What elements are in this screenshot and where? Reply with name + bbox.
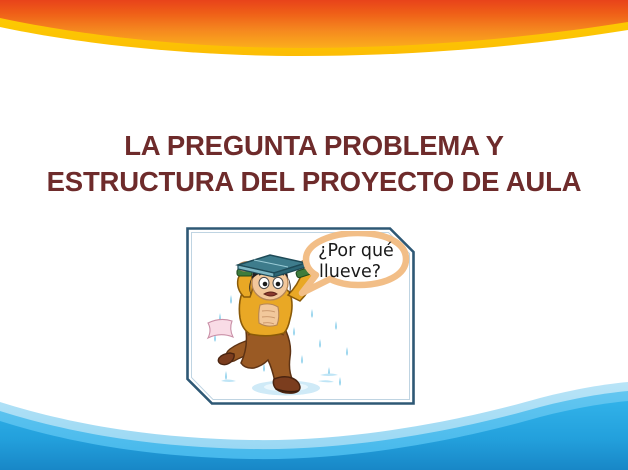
flying-paper bbox=[208, 319, 233, 338]
clipart-artwork: ¿Por qué llueve? bbox=[190, 231, 411, 401]
speech-bubble-line-1: ¿Por qué bbox=[318, 241, 394, 261]
slide-canvas: LA PREGUNTA PROBLEMA Y ESTRUCTURA DEL PR… bbox=[0, 0, 628, 470]
orange-wave-svg bbox=[0, 0, 628, 80]
orange-body-shape bbox=[0, 0, 628, 48]
main-blue-body bbox=[0, 401, 628, 470]
front-shoe bbox=[273, 377, 300, 393]
page-title: LA PREGUNTA PROBLEMA Y ESTRUCTURA DEL PR… bbox=[0, 128, 628, 201]
speech-bubble-line-2: llueve? bbox=[319, 262, 381, 282]
title-line-1: LA PREGUNTA PROBLEMA Y bbox=[0, 128, 628, 164]
title-line-2: ESTRUCTURA DEL PROYECTO DE AULA bbox=[0, 164, 628, 200]
rain-question-clipart[interactable]: ¿Por qué llueve? bbox=[186, 227, 415, 405]
speech-bubble: ¿Por qué llueve? bbox=[302, 233, 406, 293]
orange-wave-banner bbox=[0, 0, 628, 80]
yellow-band-shape bbox=[0, 0, 628, 56]
boy-in-rain-svg: ¿Por qué llueve? bbox=[190, 231, 411, 401]
